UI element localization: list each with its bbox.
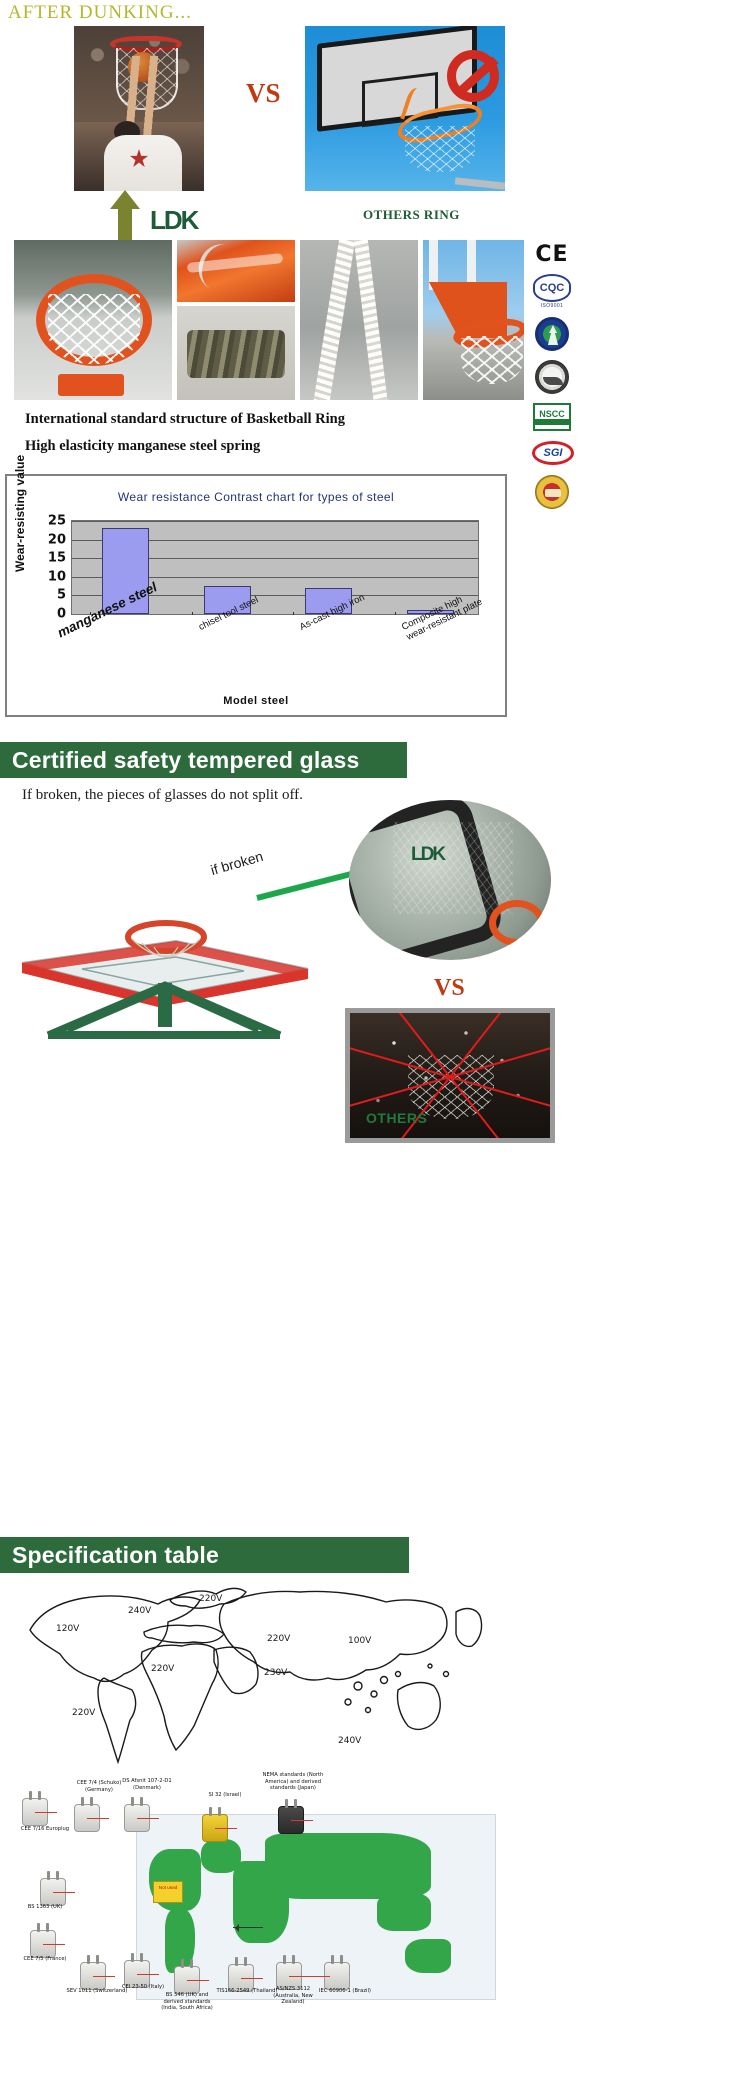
banner-glass-label: Certified safety tempered glass: [0, 747, 360, 774]
chart-y-tick: 5: [57, 588, 66, 603]
chart-y-tick: 0: [57, 607, 66, 622]
plug-connector-line: [35, 1812, 57, 1813]
vs-label-top: VS: [246, 78, 281, 109]
photo-others-shattered-glass: OTHERS: [345, 1008, 555, 1143]
plug-connector-line: [137, 1974, 159, 1975]
glass-subtitle: If broken, the pieces of glasses do not …: [22, 787, 303, 804]
chart-y-tick: 10: [48, 569, 66, 584]
plug-standard-label: NEMA standards (North America) and deriv…: [262, 1772, 324, 1792]
plug-connector-line: [187, 1980, 209, 1981]
plug-standard-label: BS 546 (UK) and derived standards (India…: [156, 1992, 218, 2012]
cqc-icon: CQC ISO9001: [532, 274, 572, 309]
plug-connector-line: [241, 1978, 263, 1979]
caption-spring: High elasticity manganese steel spring: [25, 438, 260, 455]
voltage-label: 220V: [199, 1594, 222, 1604]
no-entry-icon: [447, 50, 499, 102]
chart-x-tick: [192, 612, 193, 615]
chart-x-tick: [293, 612, 294, 615]
plug-standard-label: CEE 7/16 Europlug: [14, 1826, 76, 1833]
sgi-icon: SGI: [532, 441, 572, 465]
gray-emblem-icon: [532, 360, 572, 394]
chart-y-tick: 20: [48, 532, 66, 547]
voltage-label: 220V: [267, 1634, 290, 1644]
plug-connector-line: [137, 1818, 159, 1819]
wear-resistance-chart: Wear resistance Contrast chart for types…: [5, 474, 507, 717]
up-arrow-icon: [110, 190, 140, 240]
world-voltage-map: 120V240V220V220V100V220V230V220V240V: [18, 1578, 518, 1768]
caption-structure: International standard structure of Bask…: [25, 411, 345, 428]
plug-standard-label: SI 32 (Israel): [194, 1792, 256, 1799]
voltage-label: 220V: [72, 1708, 95, 1718]
map-pointer-arrow: [233, 1927, 263, 1928]
photo-rim-coating: [177, 240, 295, 302]
plug-standard-label: CEI 23-50 (Italy): [112, 1984, 174, 1991]
plug-connector-line: [93, 1976, 115, 1977]
others-label-broken: OTHERS: [366, 1110, 427, 1126]
voltage-label: 230V: [264, 1668, 287, 1678]
plug-connector-line: [215, 1828, 237, 1829]
ldk-logo-text: LDK: [150, 205, 197, 235]
product-detail-photo-strip: [14, 240, 524, 400]
voltage-label: 100V: [348, 1636, 371, 1646]
plug-standard-label: IEC 60906-1 (Brazil): [314, 1988, 376, 1995]
photo-ldk-dunk: [74, 26, 204, 191]
vs-label-glass: VS: [434, 975, 465, 1002]
plug-connector-line: [291, 1820, 313, 1821]
plug-connector-line: [308, 1976, 330, 1977]
red-note-label: Not used: [153, 1881, 183, 1903]
chart-y-tick: 15: [48, 551, 66, 566]
plug-connector-line: [87, 1818, 109, 1819]
gold-quality-emblem-icon: [532, 475, 572, 509]
chart-title: Wear resistance Contrast chart for types…: [7, 490, 505, 504]
chart-gridline: [72, 521, 478, 522]
ldk-logo: LDK: [150, 205, 197, 236]
photo-others-bent-ring: [305, 26, 505, 191]
voltage-label: 220V: [151, 1664, 174, 1674]
chart-x-axis-label: Model steel: [7, 695, 505, 707]
backboard-illustration: [8, 885, 318, 1045]
voltage-label: 120V: [56, 1624, 79, 1634]
banner-specification-table: Specification table: [0, 1537, 409, 1573]
net: [405, 126, 475, 172]
ldk-watermark: LDK: [411, 844, 444, 866]
plug-standards-diagram: Not used CEE 7/4 (Schuko) (Germany)CEE 7…: [8, 1770, 548, 2070]
others-ring-label: OTHERS RING: [363, 207, 460, 223]
plug-standard-label: DS Afsnit 107-2-D1 (Denmark): [116, 1778, 178, 1791]
plug-connector-line: [53, 1892, 75, 1893]
photo-ldk-broken-glass: LDK: [349, 800, 551, 960]
player-jersey: [104, 135, 182, 191]
voltage-label: 240V: [128, 1606, 151, 1616]
chart-y-tick: 25: [48, 514, 66, 529]
chart-y-axis-label: Wear-resisting value: [13, 455, 27, 572]
plug-connector-line: [43, 1944, 65, 1945]
photo-mounting-bracket: [423, 240, 524, 400]
banner-spec-label: Specification table: [0, 1542, 219, 1569]
page-title: AFTER DUNKING...: [8, 2, 192, 24]
photo-net-rope: [300, 240, 418, 400]
plug-standard-label: CEE 7/5 (France): [14, 1956, 76, 1963]
plug-standard-label: BS 1363 (UK): [14, 1904, 76, 1911]
ce-icon: CE: [532, 244, 572, 266]
photo-ring-with-net: [14, 240, 172, 400]
nscc-icon: NSCC: [532, 403, 572, 431]
support-pole: [455, 177, 505, 189]
certification-badges: CE CQC ISO9001 NSCC SGI: [524, 240, 580, 517]
voltage-label: 240V: [338, 1736, 361, 1746]
banner-certified-safety-tempered-glass: Certified safety tempered glass: [0, 742, 407, 778]
china-quality-emblem-icon: [532, 317, 572, 351]
photo-manganese-spring: [177, 306, 295, 400]
chart-x-tick: [395, 612, 396, 615]
